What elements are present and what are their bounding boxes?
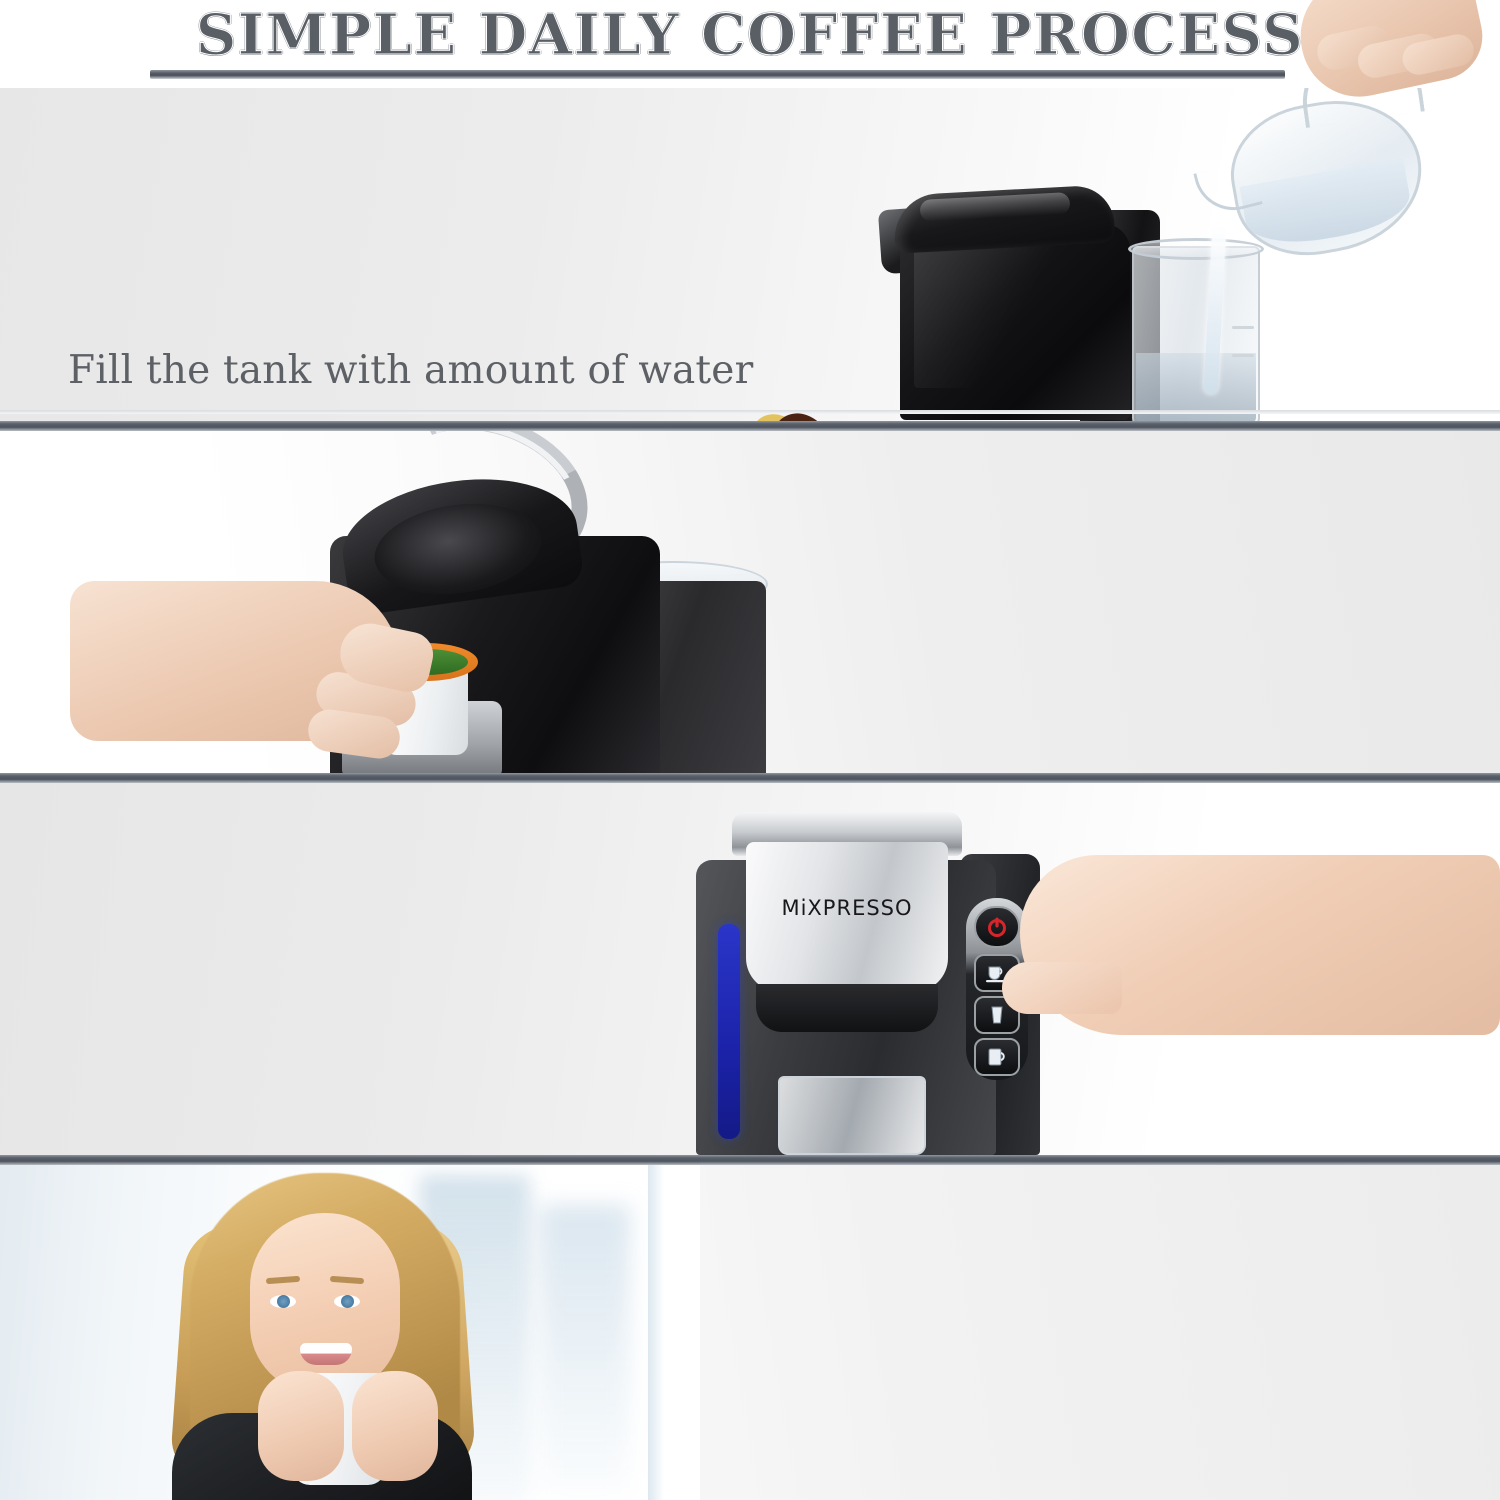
panel-divider-3 <box>0 1155 1500 1165</box>
step-panel-enjoy: Enjoy your daily morning coffee... <box>0 1165 1500 1500</box>
panel-divider-2 <box>0 773 1500 783</box>
large-cup-button[interactable] <box>974 1038 1020 1076</box>
step-panel-fill-tank: Fill the tank with amount of water <box>0 88 1500 422</box>
glass-partition-edge <box>648 1165 664 1500</box>
step-panel-add-pod: Add our or any other single cup pods <box>0 431 1500 773</box>
hand-left <box>258 1371 344 1481</box>
tank-max-mark <box>1232 326 1254 329</box>
hand-right <box>352 1371 438 1481</box>
infographic-page: SIMPLE DAILY COFFEE PROCESS Fill the tan… <box>0 0 1500 1500</box>
brand-logo: MiXPRESSO <box>746 896 948 920</box>
coffee-bean-icon <box>742 400 838 422</box>
page-title: SIMPLE DAILY COFFEE PROCESS <box>0 2 1500 68</box>
smiling-mouth <box>300 1343 352 1365</box>
scene-woman-drinking-coffee <box>0 1165 700 1500</box>
tank-rim <box>1128 238 1264 260</box>
blue-water-level-indicator <box>718 924 740 1139</box>
step-caption-fill-tank: Fill the tank with amount of water <box>68 343 753 398</box>
caption-line: Fill the tank with amount of water <box>68 348 753 393</box>
brew-spout-housing <box>756 984 938 1032</box>
title-underline-rule <box>150 70 1285 79</box>
mug-icon <box>985 1045 1009 1069</box>
title-band: SIMPLE DAILY COFFEE PROCESS <box>0 0 1500 88</box>
glass-carafe <box>778 1076 926 1155</box>
index-finger <box>1002 962 1122 1014</box>
power-button[interactable] <box>974 906 1020 948</box>
power-icon <box>985 915 1009 939</box>
iris-right <box>341 1295 354 1308</box>
machine-gloss-highlight <box>914 238 1100 388</box>
tank-volume-mark <box>1232 354 1254 357</box>
panel-divider-1 <box>0 421 1500 431</box>
scene-inserting-pod <box>130 431 770 773</box>
cup-icon <box>986 1003 1008 1027</box>
scene-pouring-water <box>880 138 1380 422</box>
iris-left <box>277 1295 290 1308</box>
background-window-pane <box>540 1205 630 1495</box>
